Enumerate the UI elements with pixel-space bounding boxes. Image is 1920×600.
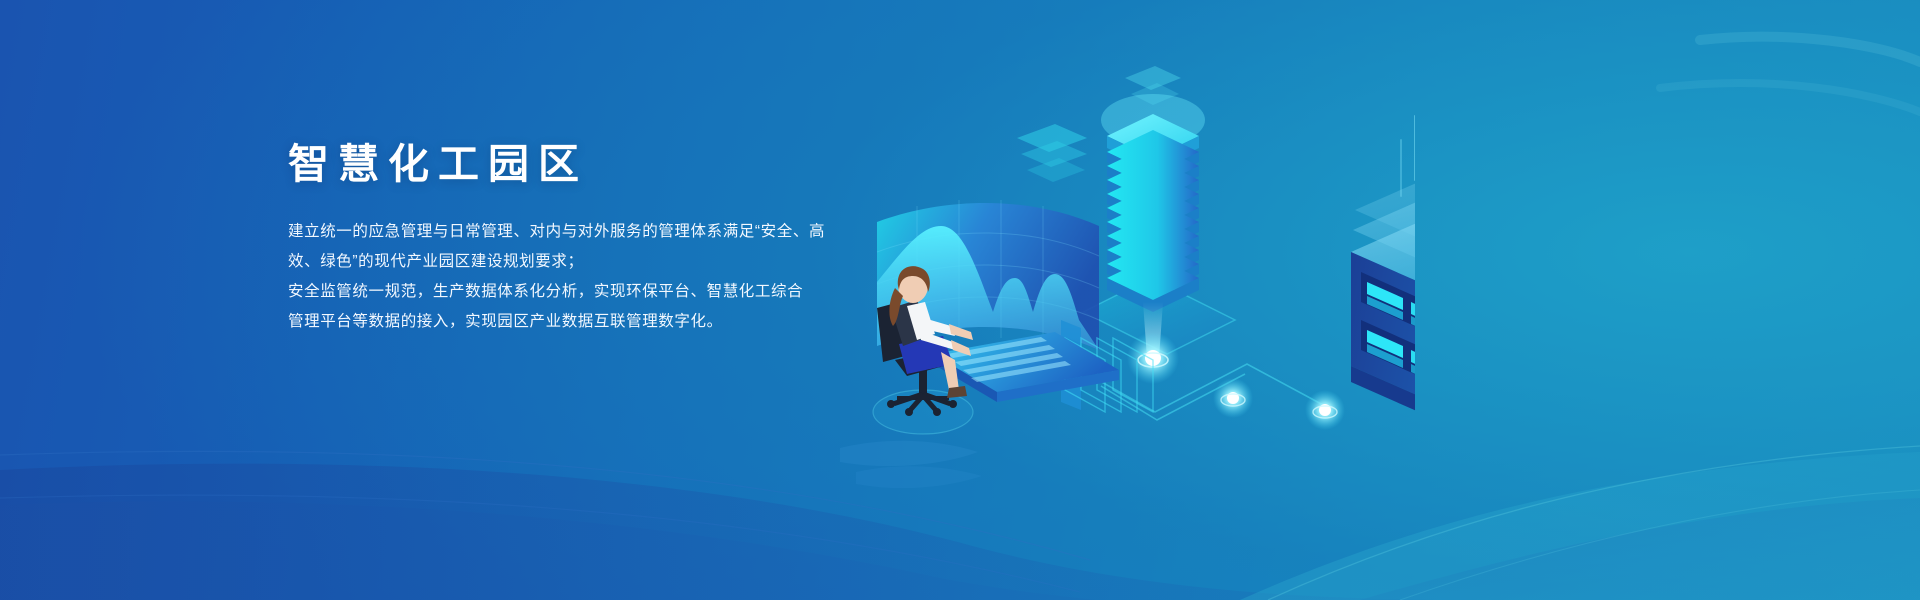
description-block: 建立统一的应急管理与日常管理、对内与对外服务的管理体系满足“安全、高 效、绿色”… bbox=[288, 217, 928, 337]
hero-banner: 智慧化工园区 建立统一的应急管理与日常管理、对内与对外服务的管理体系满足“安全、… bbox=[0, 0, 1920, 600]
connector-path bbox=[1091, 364, 1325, 420]
data-rain-lines bbox=[1401, 98, 1415, 196]
glow-arc-2 bbox=[1660, 83, 1920, 112]
glow-arc-1 bbox=[1700, 37, 1920, 62]
glowing-nodes bbox=[1127, 332, 1345, 430]
description-line: 管理平台等数据的接入，实现园区产业数据互联管理数字化。 bbox=[288, 307, 928, 337]
server-rack bbox=[1351, 166, 1415, 428]
description-line: 安全监管统一规范，生产数据体系化分析，实现环保平台、智慧化工综合 bbox=[288, 277, 928, 307]
description-line: 建立统一的应急管理与日常管理、对内与对外服务的管理体系满足“安全、高 bbox=[288, 217, 928, 247]
ribbon-shape-2 bbox=[856, 466, 982, 488]
floating-layers-icon bbox=[1017, 124, 1087, 182]
cylindrical-data-tower bbox=[1083, 94, 1235, 358]
description-line: 效、绿色”的现代产业园区建设规划要求； bbox=[288, 247, 928, 277]
smart-park-illustration bbox=[855, 20, 1415, 450]
page-title: 智慧化工园区 bbox=[288, 140, 928, 189]
banner-content: 智慧化工园区 建立统一的应急管理与日常管理、对内与对外服务的管理体系满足“安全、… bbox=[288, 140, 928, 337]
